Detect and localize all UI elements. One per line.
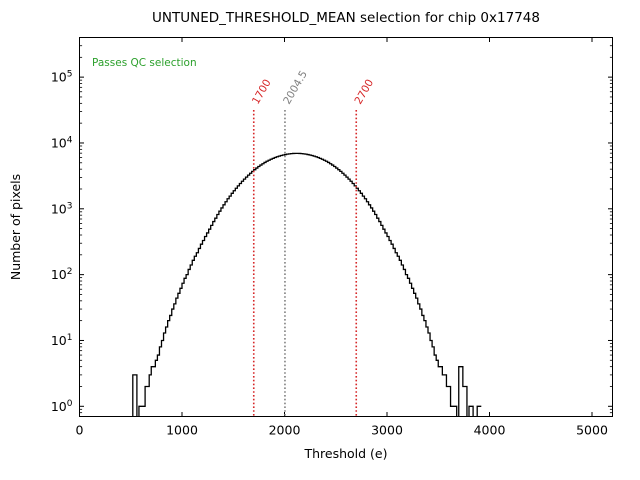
x-tick-label: 2000 bbox=[269, 423, 301, 438]
x-axis-label: Threshold (e) bbox=[303, 446, 387, 461]
x-tick-label: 5000 bbox=[576, 423, 608, 438]
x-tick-label: 1000 bbox=[166, 423, 198, 438]
x-tick-label: 0 bbox=[76, 423, 84, 438]
histogram-chart: 010002000300040005000 100101102103104105… bbox=[0, 0, 640, 480]
x-tick-label: 4000 bbox=[474, 423, 506, 438]
chart-title: UNTUNED_THRESHOLD_MEAN selection for chi… bbox=[152, 10, 540, 26]
y-axis-label: Number of pixels bbox=[8, 174, 23, 280]
qc-status-text: Passes QC selection bbox=[92, 57, 197, 69]
figure-background bbox=[0, 0, 640, 480]
figure-canvas: 010002000300040005000 100101102103104105… bbox=[0, 0, 640, 480]
x-tick-label: 3000 bbox=[371, 423, 403, 438]
